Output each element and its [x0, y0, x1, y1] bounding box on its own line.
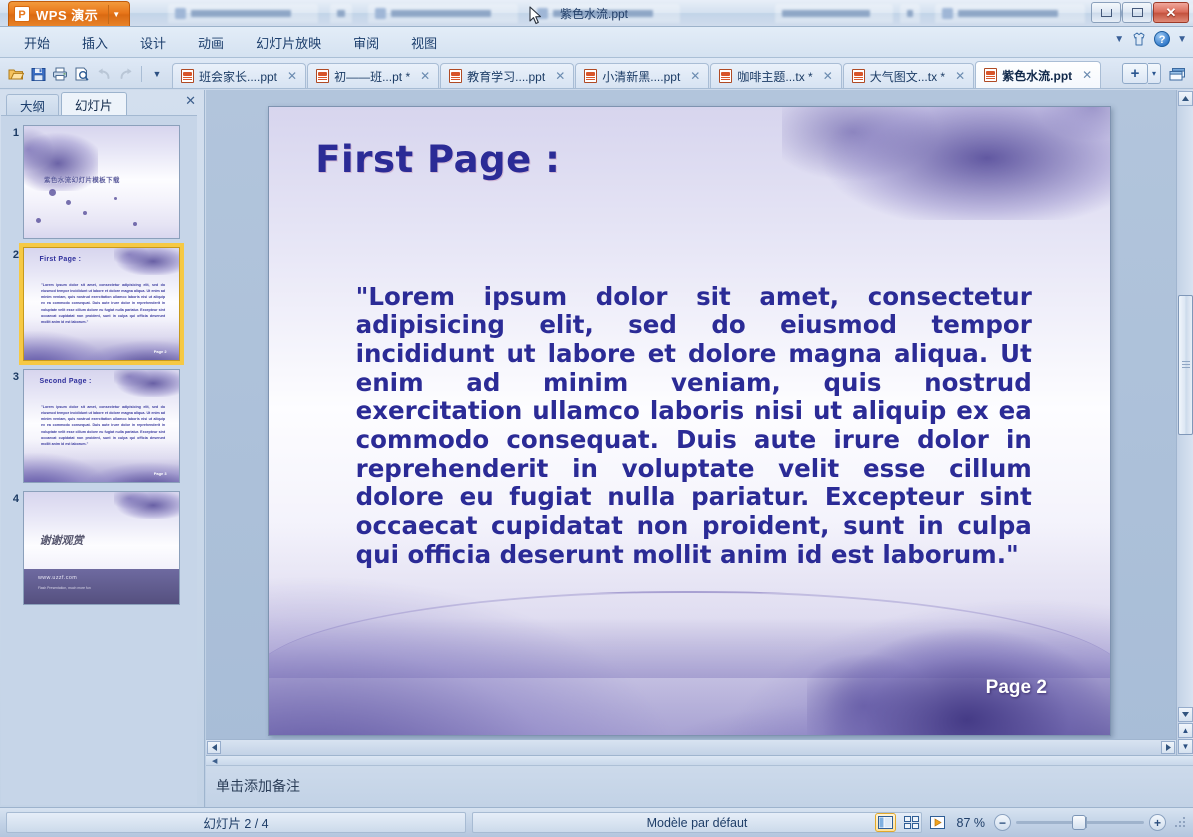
new-tab-button[interactable]: +	[1122, 63, 1148, 84]
ppt-file-icon	[852, 69, 865, 83]
thumbnail-item-1[interactable]: 1 紫色水流幻灯片模板下载	[1, 122, 197, 244]
slide-title: Second Page :	[40, 378, 92, 385]
thumbnail-number: 4	[5, 491, 19, 505]
mouse-cursor-icon	[529, 6, 543, 26]
menu-item-start[interactable]: 开始	[10, 30, 64, 55]
doc-tab-label: 大气图文...tx *	[870, 68, 945, 85]
doc-tab-4[interactable]: 咖啡主题...tx * ✕	[710, 63, 841, 88]
ppt-file-icon	[449, 69, 462, 83]
ghost-label	[337, 10, 345, 17]
doc-tab-5[interactable]: 大气图文...tx * ✕	[843, 63, 974, 88]
quick-access-toolbar: ▼	[0, 64, 172, 88]
wps-app-button[interactable]: P WPS 演示 ▼	[8, 1, 130, 26]
notes-splitter[interactable]: ◀	[206, 756, 1193, 766]
scroll-right-icon[interactable]	[1161, 741, 1175, 754]
title-bar: P WPS 演示 ▼	[0, 0, 1193, 27]
doc-tab-6-active[interactable]: 紫色水流.ppt ✕	[975, 61, 1101, 88]
bubble-decor	[83, 211, 87, 215]
closing-url: www.uzzf.com	[38, 575, 77, 581]
slide-page-number-label: Page 2	[986, 677, 1047, 699]
cover-title: 紫色水流幻灯片模板下载	[44, 175, 171, 184]
minimize-button[interactable]	[1091, 2, 1121, 23]
water-splash-decor	[782, 106, 1111, 220]
scroll-down-icon[interactable]	[1178, 707, 1193, 722]
zoom-slider-tick	[1086, 817, 1087, 828]
slide-body: "Lorem ipsum dolor sit amet, consectetur…	[41, 404, 165, 448]
print-preview-icon[interactable]	[72, 64, 92, 84]
skin-icon[interactable]	[1131, 31, 1147, 47]
thumbnail-frame[interactable]: Second Page : "Lorem ipsum dolor sit ame…	[23, 369, 180, 483]
tab-outline[interactable]: 大纲	[6, 94, 59, 115]
background-tab	[935, 4, 1085, 23]
previous-slide-icon[interactable]: ▲	[1178, 723, 1193, 738]
normal-view-icon[interactable]	[875, 813, 896, 832]
tab-bar-controls: + ▾	[1118, 63, 1193, 88]
window-list-icon[interactable]	[1166, 64, 1188, 83]
undo-icon[interactable]	[94, 64, 114, 84]
ghost-label	[958, 10, 1058, 17]
thumbnail-number: 2	[5, 247, 19, 261]
collapse-notes-icon[interactable]: ◀	[212, 757, 217, 765]
minimize-icon	[1101, 9, 1112, 17]
bubble-decor	[49, 189, 56, 196]
open-documents-tab-list: 班会家长....ppt ✕ 初——班...pt * ✕ 教育学习....ppt …	[172, 61, 1118, 88]
ppt-file-icon	[584, 69, 597, 83]
window-icon	[375, 8, 386, 19]
menu-item-view[interactable]: 视图	[397, 30, 451, 55]
water-splash-decor	[114, 248, 179, 275]
slide-page-label: Page 3	[154, 471, 167, 476]
menu-item-insert[interactable]: 插入	[68, 30, 122, 55]
thumbnail-number: 1	[5, 125, 19, 139]
water-splash-decor	[114, 492, 179, 519]
save-icon[interactable]	[28, 64, 48, 84]
thumbnail-frame[interactable]: 紫色水流幻灯片模板下载	[23, 125, 180, 239]
doc-tab-label: 初——班...pt *	[334, 68, 410, 85]
zoom-slider[interactable]	[1016, 821, 1144, 824]
close-icon: ✕	[1166, 6, 1177, 19]
help-icon[interactable]: ?	[1154, 31, 1170, 47]
doc-tab-label: 咖啡主题...tx *	[737, 68, 812, 85]
ppt-file-icon	[984, 68, 997, 82]
background-tab	[775, 4, 893, 23]
document-tab-bar: ▼ 班会家长....ppt ✕ 初——班...pt * ✕ 教育学习....pp…	[0, 58, 1193, 89]
zoom-out-button[interactable]: −	[994, 814, 1011, 831]
customize-dropdown-icon[interactable]: ▼	[147, 64, 167, 84]
menu-item-slideshow[interactable]: 幻灯片放映	[242, 30, 335, 55]
chevron-down-icon[interactable]: ▼	[1177, 34, 1187, 45]
scroll-left-icon[interactable]	[207, 741, 221, 754]
thumbnail-frame-selected[interactable]: First Page : "Lorem ipsum dolor sit amet…	[23, 247, 180, 361]
ppt-file-icon	[719, 69, 732, 83]
notes-placeholder[interactable]: 单击添加备注	[216, 776, 300, 796]
background-tab	[368, 4, 518, 23]
slideshow-icon[interactable]	[927, 813, 948, 832]
doc-tab-0[interactable]: 班会家长....ppt ✕	[172, 63, 306, 88]
slide-preview: 谢谢观赏 www.uzzf.com Flash Presentation, mu…	[24, 492, 179, 604]
wps-presentation-window: P WPS 演示 ▼	[0, 0, 1193, 837]
ghost-label	[907, 10, 913, 17]
new-tab-dropdown-icon[interactable]: ▾	[1148, 63, 1161, 84]
slide-preview: 紫色水流幻灯片模板下载	[24, 126, 179, 238]
print-icon[interactable]	[50, 64, 70, 84]
open-icon[interactable]	[6, 64, 26, 84]
menu-item-animation[interactable]: 动画	[184, 30, 238, 55]
background-tab	[330, 4, 352, 23]
pane-tab-strip: 大纲 幻灯片 ✕	[0, 90, 204, 115]
chevron-down-icon[interactable]: ▼	[1114, 34, 1124, 45]
slide-body: "Lorem ipsum dolor sit amet, consectetur…	[41, 282, 165, 326]
slide-page-label: Page 2	[154, 349, 167, 354]
close-pane-icon[interactable]: ✕	[185, 93, 196, 109]
window-title: 紫色水流.ppt	[560, 5, 628, 22]
chevron-down-icon[interactable]: ▼	[108, 5, 123, 24]
water-splash-decor	[114, 370, 179, 397]
closing-subtitle: Flash Presentation, much more fun	[38, 586, 91, 590]
slide-editing-area: First Page : "Lorem ipsum dolor sit amet…	[206, 90, 1193, 755]
zoom-slider-thumb[interactable]	[1072, 815, 1086, 830]
slide-thumbnail-list[interactable]: 1 紫色水流幻灯片模板下载	[1, 115, 197, 805]
tab-slides[interactable]: 幻灯片	[61, 92, 127, 115]
slide-navigator-pane: 大纲 幻灯片 ✕ 1 紫色水流幻灯片	[0, 90, 205, 807]
window-controls: ✕	[1091, 2, 1189, 23]
slide-sorter-icon[interactable]	[901, 813, 922, 832]
redo-icon[interactable]	[116, 64, 136, 84]
ghost-label	[191, 10, 291, 17]
menu-bar-right-icons: ▼ ? ▼	[1114, 31, 1187, 47]
resize-grip-icon[interactable]	[1174, 816, 1187, 829]
menu-item-review[interactable]: 审阅	[339, 30, 393, 55]
close-icon[interactable]: ✕	[821, 69, 835, 83]
doc-tab-label: 小清新黑....ppt	[602, 68, 680, 85]
background-tab	[168, 4, 318, 23]
scroll-up-icon[interactable]	[1178, 91, 1193, 106]
close-button[interactable]: ✕	[1153, 2, 1189, 23]
closing-thanks-text: 谢谢观赏	[40, 532, 84, 548]
background-window-tabs	[130, 0, 1193, 27]
next-slide-icon[interactable]: ▼	[1178, 739, 1193, 754]
window-icon	[175, 8, 186, 19]
close-icon[interactable]: ✕	[553, 69, 567, 83]
status-bar-right: 87 % − +	[875, 813, 1188, 832]
close-icon[interactable]: ✕	[418, 69, 432, 83]
close-icon[interactable]: ✕	[953, 69, 967, 83]
doc-tab-label: 班会家长....ppt	[199, 68, 277, 85]
thumbnail-number: 3	[5, 369, 19, 383]
thumbnail-item-2[interactable]: 2 First Page : "Lorem ipsum dolor sit am…	[1, 244, 197, 366]
closing-footer-band: www.uzzf.com Flash Presentation, much mo…	[24, 569, 179, 604]
notes-pane[interactable]: ◀ 单击添加备注	[206, 755, 1193, 807]
bubble-decor	[114, 197, 117, 200]
background-tab	[900, 4, 920, 23]
restore-icon	[1132, 8, 1143, 17]
close-icon[interactable]: ✕	[285, 69, 299, 83]
menu-item-design[interactable]: 设计	[126, 30, 180, 55]
water-rock-decor	[807, 584, 1111, 736]
thumbnail-item-3[interactable]: 3 Second Page : "Lorem ipsum dolor sit a…	[1, 366, 197, 488]
doc-tab-3[interactable]: 小清新黑....ppt ✕	[575, 63, 709, 88]
horizontal-scrollbar[interactable]	[206, 739, 1176, 755]
slide-preview: Second Page : "Lorem ipsum dolor sit ame…	[24, 370, 179, 482]
ppt-file-icon	[181, 69, 194, 83]
zoom-in-button[interactable]: +	[1149, 814, 1166, 831]
vertical-scrollbar[interactable]: ▲ ▼	[1176, 90, 1193, 755]
doc-tab-label: 教育学习....ppt	[467, 68, 545, 85]
thumbnail-item-4[interactable]: 4 谢谢观赏 www.uzzf.com Flash Presentation, …	[1, 488, 197, 610]
menu-bar: 开始 插入 设计 动画 幻灯片放映 审阅 视图 ▼ ? ▼	[0, 27, 1193, 58]
slide-preview: First Page : "Lorem ipsum dolor sit amet…	[24, 248, 179, 360]
doc-tab-1[interactable]: 初——班...pt * ✕	[307, 63, 439, 88]
doc-tab-label: 紫色水流.ppt	[1002, 67, 1072, 84]
ghost-label	[782, 10, 870, 17]
slide-body-textbox[interactable]: "Lorem ipsum dolor sit amet, consectetur…	[356, 283, 1032, 570]
doc-tab-2[interactable]: 教育学习....ppt ✕	[440, 63, 574, 88]
slide-title: First Page :	[40, 256, 82, 263]
close-icon[interactable]: ✕	[1080, 68, 1094, 82]
window-icon	[942, 8, 953, 19]
restore-button[interactable]	[1122, 2, 1152, 23]
current-slide-canvas[interactable]: First Page : "Lorem ipsum dolor sit amet…	[268, 106, 1111, 736]
wps-logo-icon: P	[14, 6, 30, 22]
status-bar: 幻灯片 2 / 4 Modèle par défaut	[0, 807, 1193, 837]
slide-counter: 幻灯片 2 / 4	[6, 812, 466, 833]
vertical-scroll-thumb[interactable]	[1178, 295, 1193, 435]
bubble-decor	[133, 222, 137, 226]
slide-title-textbox[interactable]: First Page :	[315, 138, 560, 181]
bubble-decor	[66, 200, 71, 205]
zoom-level-label: 87 %	[957, 816, 986, 830]
ppt-file-icon	[316, 69, 329, 83]
template-name: Modèle par défaut	[472, 812, 922, 833]
ghost-label	[391, 10, 491, 17]
thumbnail-frame[interactable]: 谢谢观赏 www.uzzf.com Flash Presentation, mu…	[23, 491, 180, 605]
wps-app-name: WPS 演示	[36, 5, 98, 24]
toolbar-divider	[141, 66, 142, 82]
close-icon[interactable]: ✕	[688, 69, 702, 83]
